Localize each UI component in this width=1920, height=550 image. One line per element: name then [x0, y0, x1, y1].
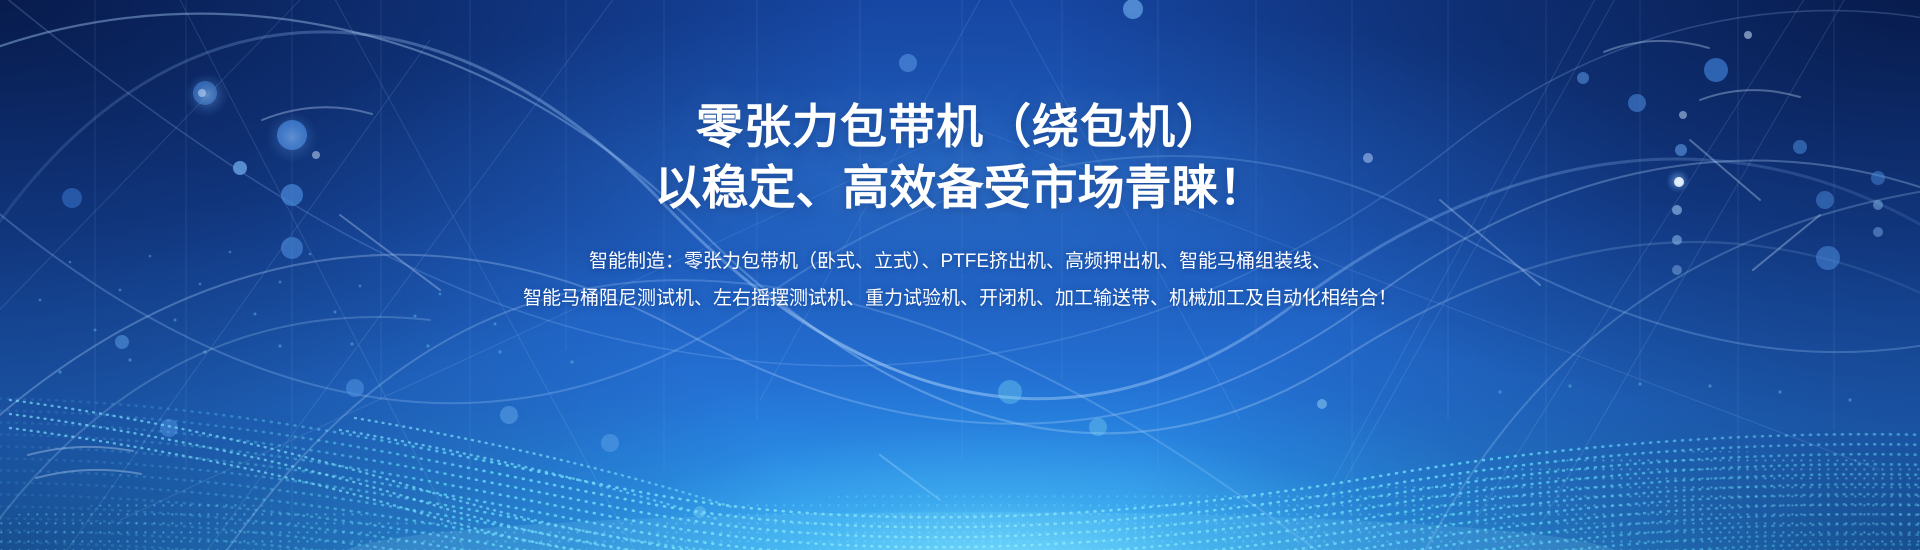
banner-subtitle: 智能制造：零张力包带机（卧式、立式）、PTFE挤出机、高频押出机、智能马桶组装线…	[523, 244, 1397, 317]
subtitle-line-2: 智能马桶阻尼测试机、左右摇摆测试机、重力试验机、开闭机、加工输送带、机械加工及自…	[523, 281, 1397, 317]
hero-banner: 零张力包带机（绕包机） 以稳定、高效备受市场青睐！ 智能制造：零张力包带机（卧式…	[0, 0, 1920, 550]
subtitle-line-1: 智能制造：零张力包带机（卧式、立式）、PTFE挤出机、高频押出机、智能马桶组装线…	[523, 244, 1397, 280]
banner-headline: 零张力包带机（绕包机） 以稳定、高效备受市场青睐！	[655, 96, 1266, 218]
headline-line-2: 以稳定、高效备受市场青睐！	[655, 157, 1266, 218]
banner-content: 零张力包带机（绕包机） 以稳定、高效备受市场青睐！ 智能制造：零张力包带机（卧式…	[0, 0, 1920, 550]
headline-line-1: 零张力包带机（绕包机）	[655, 96, 1266, 157]
